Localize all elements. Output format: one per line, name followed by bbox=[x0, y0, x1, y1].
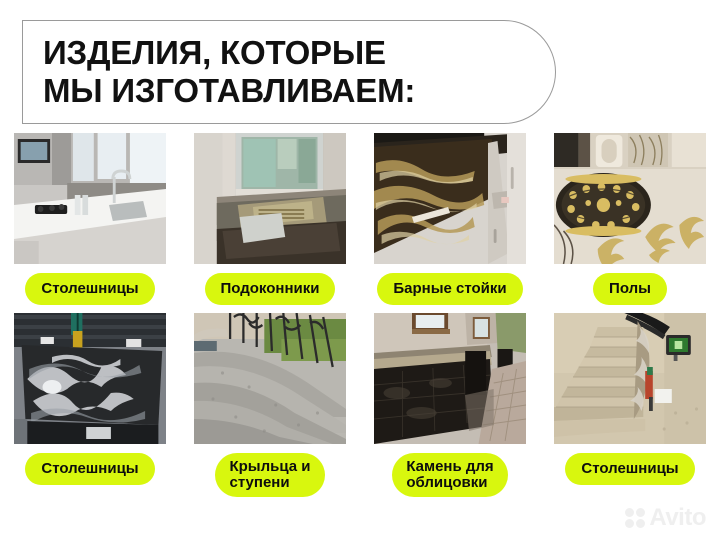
product-card[interactable]: Крыльца и ступени bbox=[180, 313, 360, 513]
product-label: Крыльца и ступени bbox=[215, 453, 324, 497]
product-photo-dark-marble-slab-warehouse bbox=[14, 313, 166, 444]
product-card[interactable]: Столешницы bbox=[0, 313, 180, 513]
page-title-line-2: МЫ ИЗГОТАВЛИВАЕМ: bbox=[43, 72, 555, 110]
product-label: Подоконники bbox=[205, 273, 336, 305]
product-card[interactable]: Камень для облицовки bbox=[360, 313, 540, 513]
product-photo-beige-marble-staircase bbox=[554, 313, 706, 444]
product-photo-granite-porch-steps bbox=[194, 313, 346, 444]
product-row-bottom: Столешницы bbox=[0, 313, 720, 513]
product-card[interactable]: Столешницы bbox=[0, 133, 180, 313]
product-card[interactable]: Столешницы bbox=[540, 313, 720, 513]
product-label: Столешницы bbox=[25, 273, 154, 305]
product-label: Столешницы bbox=[25, 453, 154, 485]
product-row-top: Столешницы bbox=[0, 133, 720, 313]
product-photo-black-stone-facade-cladding bbox=[374, 313, 526, 444]
product-photo-kitchen-white-countertop bbox=[14, 133, 166, 264]
product-photo-ornate-marble-floor-medallion bbox=[554, 133, 706, 264]
header-banner: ИЗДЕЛИЯ, КОТОРЫЕ МЫ ИЗГОТАВЛИВАЕМ: bbox=[22, 20, 556, 124]
product-card[interactable]: Полы bbox=[540, 133, 720, 313]
product-card[interactable]: Подоконники bbox=[180, 133, 360, 313]
product-label: Столешницы bbox=[565, 453, 694, 485]
product-label: Барные стойки bbox=[377, 273, 522, 305]
page-title-line-1: ИЗДЕЛИЯ, КОТОРЫЕ bbox=[43, 34, 555, 72]
product-photo-granite-window-sill bbox=[194, 133, 346, 264]
header-box: ИЗДЕЛИЯ, КОТОРЫЕ МЫ ИЗГОТАВЛИВАЕМ: bbox=[22, 20, 556, 124]
product-label: Камень для облицовки bbox=[392, 453, 507, 497]
avito-logo-icon bbox=[625, 508, 645, 528]
avito-wordmark: Avito bbox=[649, 504, 706, 532]
product-photo-brown-marble-bar-counter bbox=[374, 133, 526, 264]
product-card[interactable]: Барные стойки bbox=[360, 133, 540, 313]
product-label: Полы bbox=[593, 273, 667, 305]
avito-watermark: Avito bbox=[625, 504, 706, 532]
product-grid: Столешницы bbox=[0, 133, 720, 513]
